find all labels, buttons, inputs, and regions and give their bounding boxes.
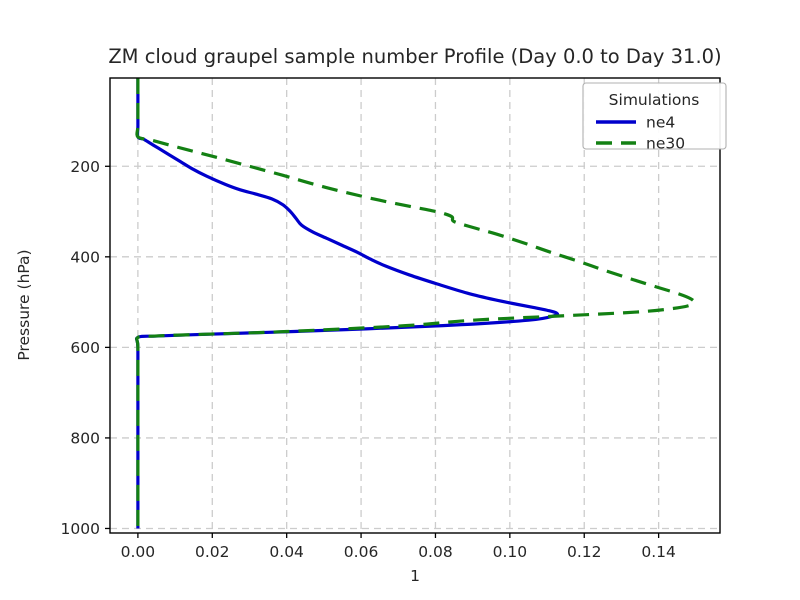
x-ticklabel-4: 0.08 bbox=[418, 543, 453, 561]
profile-chart: 0.000.020.040.060.080.100.120.14 2004006… bbox=[0, 0, 800, 600]
x-ticklabel-0: 0.00 bbox=[121, 543, 156, 561]
chart-figure: 0.000.020.040.060.080.100.120.14 2004006… bbox=[0, 0, 800, 600]
y-ticklabel-2: 600 bbox=[70, 339, 100, 357]
legend-label-ne30[interactable]: ne30 bbox=[646, 135, 685, 153]
chart-title: ZM cloud graupel sample number Profile (… bbox=[108, 45, 721, 68]
y-axis-ticks: 2004006008001000 bbox=[61, 158, 110, 538]
legend-title: Simulations bbox=[609, 91, 700, 109]
x-axis-ticks: 0.000.020.040.060.080.100.120.14 bbox=[121, 533, 676, 561]
x-ticklabel-1: 0.02 bbox=[195, 543, 230, 561]
legend[interactable]: Simulations ne4ne30 bbox=[583, 83, 726, 153]
x-ticklabel-5: 0.10 bbox=[493, 543, 528, 561]
x-ticklabel-7: 0.14 bbox=[641, 543, 676, 561]
y-ticklabel-4: 1000 bbox=[61, 520, 100, 538]
x-axis-label: 1 bbox=[410, 567, 420, 585]
x-ticklabel-6: 0.12 bbox=[567, 543, 602, 561]
x-ticklabel-2: 0.04 bbox=[269, 543, 304, 561]
x-ticklabel-3: 0.06 bbox=[344, 543, 379, 561]
y-ticklabel-0: 200 bbox=[70, 158, 100, 176]
legend-label-ne4[interactable]: ne4 bbox=[646, 114, 675, 132]
y-ticklabel-1: 400 bbox=[70, 248, 100, 266]
y-ticklabel-3: 800 bbox=[70, 429, 100, 447]
y-axis-label: Pressure (hPa) bbox=[15, 249, 33, 360]
